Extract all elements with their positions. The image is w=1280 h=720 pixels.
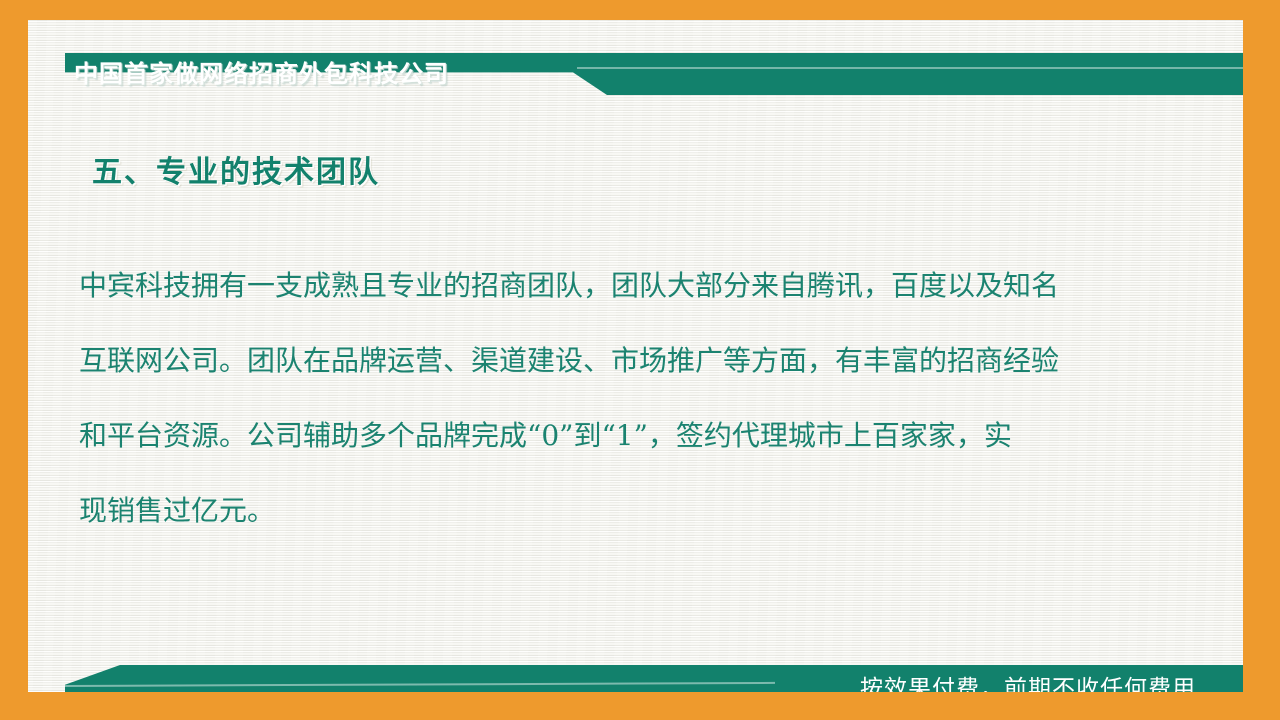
body-line: 互联网公司。团队在品牌运营、渠道建设、市场推广等方面，有丰富的招商经验: [79, 323, 1209, 398]
slide-root: 中国首家做网络招商外包科技公司 五、专业的技术团队 中宾科技拥有一支成熟且专业的…: [0, 0, 1280, 720]
body-line: 和平台资源。公司辅助多个品牌完成“0”到“1”，签约代理城市上百家家，实: [79, 398, 1209, 473]
header-title: 中国首家做网络招商外包科技公司: [74, 56, 449, 92]
body-line: 中宾科技拥有一支成熟且专业的招商团队，团队大部分来自腾讯，百度以及知名: [79, 248, 1209, 323]
body-line: 现销售过亿元。: [79, 473, 1209, 548]
body-paragraph: 中宾科技拥有一支成熟且专业的招商团队，团队大部分来自腾讯，百度以及知名 互联网公…: [79, 248, 1209, 548]
section-title: 五、专业的技术团队: [92, 151, 380, 195]
footer-tagline: 按效果付费，前期不收任何费用: [860, 670, 1196, 692]
header-hairline-divider: [577, 67, 1243, 69]
slide-canvas: 中国首家做网络招商外包科技公司 五、专业的技术团队 中宾科技拥有一支成熟且专业的…: [28, 20, 1243, 692]
